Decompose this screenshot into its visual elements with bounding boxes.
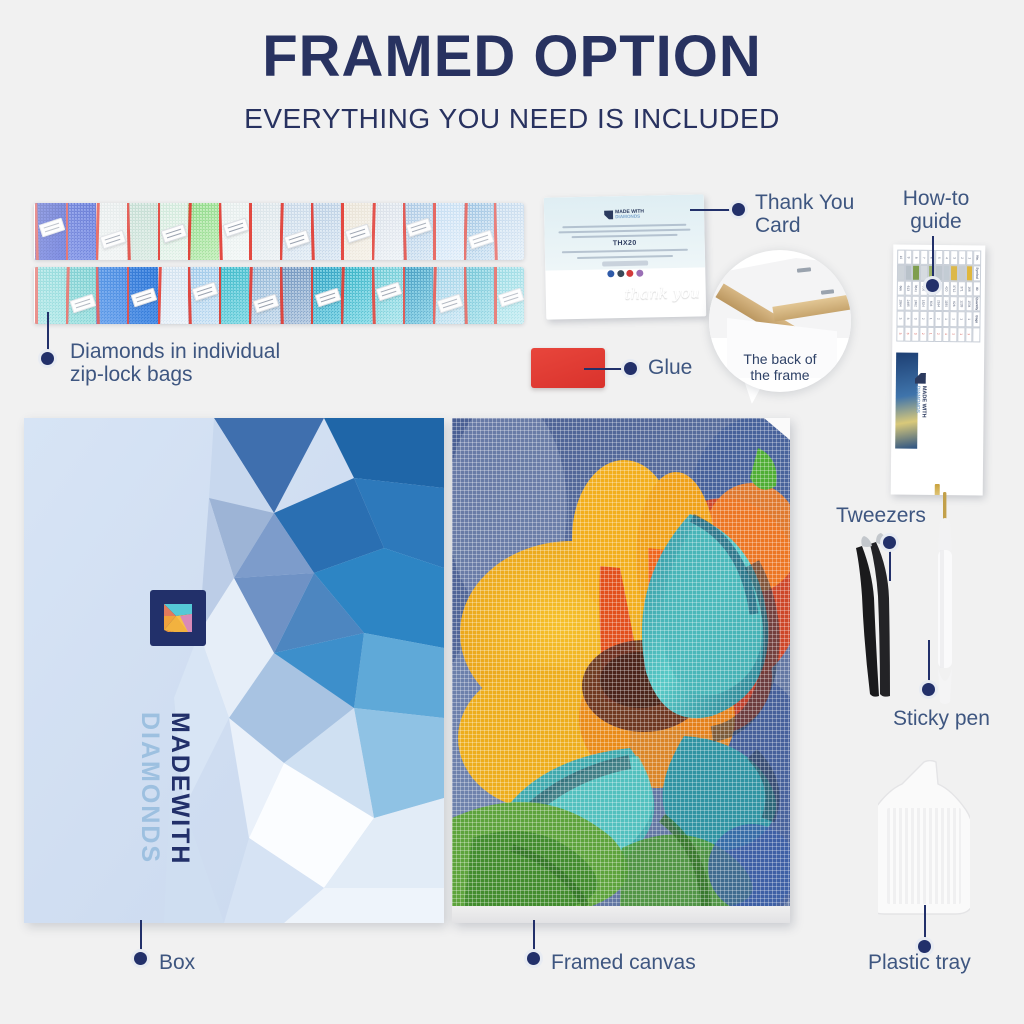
chart-cell-id: 3712 bbox=[950, 281, 958, 296]
zip-lock-bag bbox=[187, 267, 219, 324]
zip-lock-bag bbox=[432, 267, 464, 324]
callout-line-framed-canvas bbox=[533, 920, 535, 954]
box-brand-top: MADEWITH bbox=[165, 712, 194, 865]
card-text-line bbox=[577, 255, 672, 259]
chart-header-column: No.SymbolIDQuantityBags bbox=[973, 250, 982, 342]
chart-header-cell: Quantity bbox=[973, 296, 981, 311]
chart-cell-red: 1 bbox=[965, 327, 973, 342]
callout-dot-how-to bbox=[926, 279, 939, 292]
chart-cell-id: 666 bbox=[897, 280, 905, 295]
diamond-beads bbox=[372, 203, 403, 260]
zip-seal bbox=[403, 267, 406, 324]
card-message: MADE WITH DIAMONDS THX20 bbox=[552, 209, 697, 279]
zip-lock-bag bbox=[218, 203, 250, 260]
tray-ribs bbox=[887, 808, 961, 904]
zip-lock-bag bbox=[432, 203, 464, 260]
zip-lock-bag bbox=[95, 203, 127, 260]
chart-cell-red: 1 bbox=[950, 327, 958, 342]
zip-lock-bag bbox=[279, 267, 311, 324]
chart-cell-red: 2 bbox=[919, 326, 927, 341]
chart-cell-sym bbox=[905, 265, 913, 280]
chart-cell-red: 3 bbox=[912, 326, 920, 341]
chart-cell-sym bbox=[920, 265, 928, 280]
chart-cell-red: 3 bbox=[896, 326, 904, 341]
callout-label-glue: Glue bbox=[648, 357, 692, 380]
box-logo: MADEWITH DIAMONDS bbox=[150, 590, 206, 646]
chart-cell-sym bbox=[950, 265, 958, 280]
chart-cell-no: 7 bbox=[920, 250, 928, 265]
canvas-artwork bbox=[452, 418, 790, 906]
canvas-bottom-edge bbox=[452, 906, 790, 923]
callout-line-box bbox=[140, 920, 142, 954]
instagram-icon bbox=[617, 270, 624, 277]
page-title: FRAMED OPTION bbox=[0, 28, 1024, 86]
chart-cell-qty: 2964 bbox=[897, 296, 905, 311]
chart-cell-no: 10 bbox=[897, 250, 905, 265]
card-handle-bar bbox=[602, 260, 648, 266]
chart-cell-red: 1 bbox=[942, 327, 950, 342]
pinterest-icon bbox=[627, 270, 634, 277]
diamond-beads bbox=[249, 203, 280, 260]
chart-cell-qty: 2462 bbox=[912, 296, 920, 311]
sticky-pen-tool bbox=[934, 492, 956, 707]
box-polygon-pattern bbox=[24, 418, 444, 923]
guide-logo-bottom: DIAMONDS bbox=[915, 386, 920, 418]
chart-cell-id: 420 bbox=[943, 281, 951, 296]
chart-cell-sym bbox=[943, 265, 951, 280]
card-text-line bbox=[562, 249, 689, 254]
card-text-line bbox=[562, 223, 686, 228]
chart-cell-no: 4 bbox=[943, 250, 951, 265]
callout-label-tweezers: Tweezers bbox=[836, 505, 926, 528]
zip-lock-bag bbox=[248, 203, 280, 260]
diamond-beads bbox=[66, 203, 97, 260]
chart-cell-id: 3841 bbox=[912, 280, 920, 295]
zip-lock-bag bbox=[95, 267, 127, 324]
callout-dot-sticky-pen bbox=[922, 683, 935, 696]
zip-lock-bag bbox=[279, 203, 311, 260]
diamond-beads bbox=[35, 267, 66, 324]
chart-cell-qty: 603 bbox=[927, 296, 935, 311]
chart-cell-bags: 1 bbox=[965, 312, 973, 327]
zip-lock-bag bbox=[218, 267, 250, 324]
zip-seal bbox=[249, 203, 252, 260]
zip-seal bbox=[158, 203, 161, 260]
zip-lock-bag bbox=[187, 203, 219, 260]
chart-cell-bags: 3 bbox=[912, 311, 920, 326]
chart-header-cell: ID bbox=[973, 281, 981, 296]
zip-seal bbox=[219, 267, 222, 324]
bubble-label: The back of the frame bbox=[712, 352, 848, 383]
callout-label-framed-canvas: Framed canvas bbox=[551, 952, 696, 975]
callout-label-diamonds: Diamonds in individual zip-lock bags bbox=[70, 341, 280, 386]
zip-seal bbox=[494, 267, 497, 324]
zip-lock-bag bbox=[402, 203, 434, 260]
chart-cell-qty: 1824 bbox=[919, 296, 927, 311]
diamond-logo-icon bbox=[604, 211, 613, 220]
callout-line-tweezers bbox=[889, 545, 891, 581]
zip-lock-bag bbox=[34, 203, 66, 260]
callout-dot-diamonds bbox=[41, 352, 54, 365]
chart-cell-sym bbox=[897, 265, 905, 280]
callout-line-sticky-pen bbox=[928, 640, 930, 684]
chart-cell-bags: 3 bbox=[904, 311, 912, 326]
zip-lock-bag bbox=[402, 267, 434, 324]
chart-cell-red: 1 bbox=[927, 327, 935, 342]
card-discount-code: THX20 bbox=[553, 239, 697, 249]
card-text-line bbox=[571, 234, 678, 238]
diamond-beads bbox=[188, 203, 219, 260]
diamond-beads bbox=[403, 267, 434, 324]
callout-line-how-to bbox=[932, 236, 934, 282]
thank-you-card: MADE WITH DIAMONDS THX20 thank you bbox=[544, 194, 707, 319]
chart-header-cell: No. bbox=[973, 250, 981, 265]
chart-cell-id: 613 bbox=[904, 280, 912, 295]
chart-cell-no: 3 bbox=[951, 250, 959, 265]
plastic-tray-tool bbox=[878, 760, 970, 920]
chart-header-cell bbox=[973, 327, 981, 342]
zip-lock-bag bbox=[493, 267, 524, 324]
zip-lock-bag bbox=[463, 267, 495, 324]
zip-lock-bag bbox=[310, 203, 342, 260]
zip-seal bbox=[311, 267, 314, 324]
zip-lock-bag bbox=[248, 267, 280, 324]
chart-cell-qty: 926 bbox=[950, 296, 958, 311]
callout-label-thank-you: Thank You Card bbox=[755, 192, 854, 237]
diamond-beads bbox=[127, 203, 158, 260]
diamond-logo-icon bbox=[915, 373, 926, 384]
chart-cell-bags: 1 bbox=[958, 312, 966, 327]
chart-cell-id: 166 bbox=[965, 281, 973, 296]
chart-cell-qty: 1534 bbox=[965, 296, 973, 311]
chart-cell-qty: 1239 bbox=[958, 296, 966, 311]
card-thank-you-script: thank you bbox=[624, 287, 700, 302]
zip-lock-bag bbox=[34, 267, 66, 324]
callout-label-box: Box bbox=[159, 952, 195, 975]
chart-cell-qty: 1180 bbox=[942, 296, 950, 311]
zip-lock-bag bbox=[340, 203, 372, 260]
chart-cell-sym bbox=[958, 266, 966, 281]
callout-line-plastic-tray bbox=[924, 905, 926, 941]
chart-cell-qty: 2164 bbox=[935, 296, 943, 311]
zip-lock-bag bbox=[157, 267, 189, 324]
callout-label-how-to: How-to guide bbox=[890, 188, 982, 233]
zip-lock-bag bbox=[65, 267, 97, 324]
chart-cell-bags: 1 bbox=[942, 311, 950, 326]
zip-seal bbox=[35, 267, 38, 324]
callout-dot-framed-canvas bbox=[527, 952, 540, 965]
card-social-icons bbox=[553, 268, 697, 278]
zip-seal bbox=[341, 203, 344, 260]
zip-seal bbox=[433, 203, 436, 260]
chart-cell-red: 3 bbox=[904, 326, 912, 341]
zip-lock-bag bbox=[126, 267, 158, 324]
zip-lock-bag bbox=[493, 203, 524, 260]
callout-dot-box bbox=[134, 952, 147, 965]
zip-lock-bag bbox=[463, 203, 495, 260]
zip-lock-bag bbox=[371, 267, 403, 324]
diamond-bag-row-top bbox=[34, 203, 524, 260]
diamond-beads bbox=[341, 267, 372, 324]
callout-label-sticky-pen: Sticky pen bbox=[893, 708, 990, 731]
callout-dot-thank-you bbox=[732, 203, 745, 216]
card-text-line bbox=[558, 228, 690, 233]
chart-header-cell: Symbol bbox=[973, 266, 981, 281]
card-logo: MADE WITH DIAMONDS bbox=[552, 209, 696, 222]
zip-lock-bag bbox=[157, 203, 189, 260]
diamond-beads bbox=[219, 267, 250, 324]
page-subtitle: EVERYTHING YOU NEED IS INCLUDED bbox=[0, 105, 1024, 133]
chart-cell-bags: 2 bbox=[935, 311, 943, 326]
chart-cell-red: 2 bbox=[934, 327, 942, 342]
zip-lock-bag bbox=[65, 203, 97, 260]
chart-cell-bags: 1 bbox=[950, 311, 958, 326]
diamond-beads bbox=[158, 267, 189, 324]
callout-label-plastic-tray: Plastic tray bbox=[868, 952, 971, 975]
diamond-beads bbox=[433, 203, 464, 260]
chart-cell-sym bbox=[966, 266, 974, 281]
guide-logo: MADE WITH DIAMONDS bbox=[926, 373, 971, 384]
diamond-beads bbox=[280, 267, 311, 324]
diamond-bag-row-bottom bbox=[34, 267, 524, 324]
chart-cell-no: 8 bbox=[912, 250, 920, 265]
infographic-stage: FRAMED OPTION EVERYTHING YOU NEED IS INC… bbox=[0, 0, 1024, 1024]
callout-dot-glue bbox=[624, 362, 637, 375]
zip-seal bbox=[127, 267, 130, 324]
zip-lock-bag bbox=[310, 267, 342, 324]
callout-line-diamonds bbox=[47, 312, 49, 354]
callout-dot-tweezers bbox=[883, 536, 896, 549]
chart-cell-qty: 2485 bbox=[904, 296, 912, 311]
diamond-beads bbox=[494, 203, 524, 260]
product-box: MADEWITH DIAMONDS bbox=[24, 418, 444, 923]
zip-lock-bag bbox=[126, 203, 158, 260]
chart-cell-sym bbox=[912, 265, 920, 280]
card-logo-bottom: DIAMONDS bbox=[615, 215, 644, 220]
diamond-beads bbox=[311, 203, 342, 260]
chart-cell-no: 2 bbox=[958, 250, 966, 265]
youtube-icon bbox=[636, 269, 643, 276]
chart-cell-bags: 3 bbox=[896, 311, 904, 326]
framed-canvas bbox=[452, 418, 790, 923]
color-chart-table: 1066629643396132485338384124623379801824… bbox=[896, 250, 981, 343]
chart-cell-no: 9 bbox=[905, 250, 913, 265]
zip-seal bbox=[66, 203, 69, 260]
chart-header-cell: Bags bbox=[973, 312, 981, 327]
zip-lock-bag bbox=[340, 267, 372, 324]
chart-cell-bags: 1 bbox=[927, 311, 935, 326]
chart-cell-no: 1 bbox=[966, 250, 974, 265]
chart-cell-sym bbox=[935, 265, 943, 280]
chart-cell-id: 371 bbox=[958, 281, 966, 296]
diamond-beads bbox=[464, 267, 495, 324]
chart-cell-red: 1 bbox=[957, 327, 965, 342]
callout-line-glue bbox=[584, 368, 626, 370]
diamond-logo-icon bbox=[150, 590, 206, 646]
chart-cell-bags: 2 bbox=[919, 311, 927, 326]
diamond-beads bbox=[96, 267, 127, 324]
callout-line-thank-you bbox=[690, 209, 734, 211]
chart-cell-no: 5 bbox=[935, 250, 943, 265]
facebook-icon bbox=[608, 270, 615, 277]
box-brand-bottom: DIAMONDS bbox=[135, 712, 164, 864]
zip-lock-bag bbox=[371, 203, 403, 260]
